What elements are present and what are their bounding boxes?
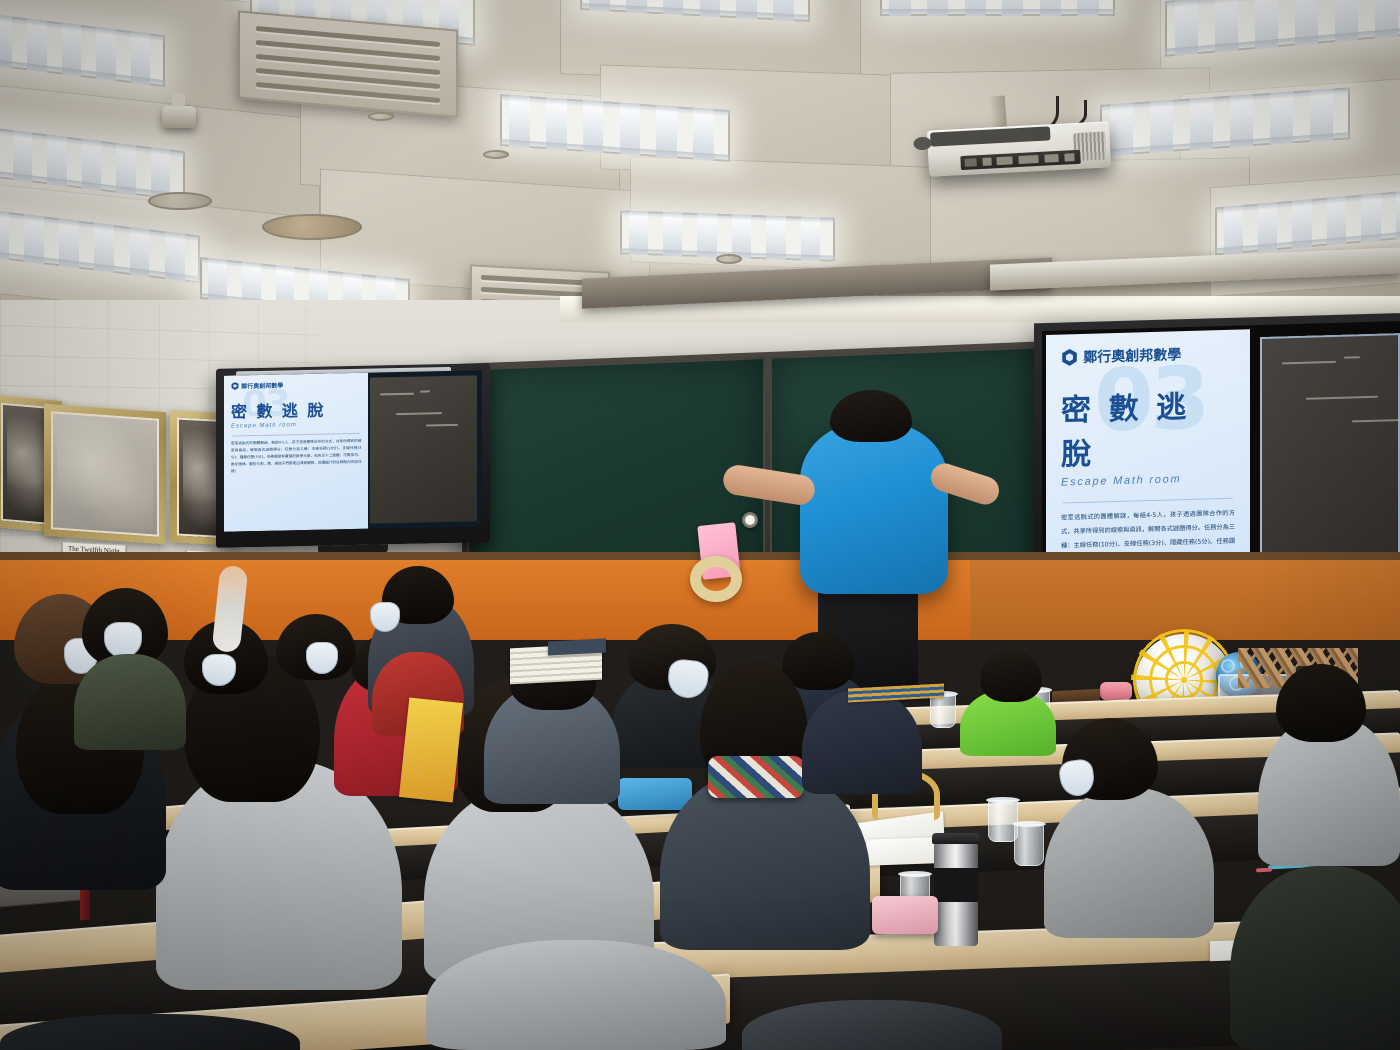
slide-title-cn: 密 數 逃 脫 bbox=[1061, 381, 1235, 474]
flyer bbox=[399, 697, 463, 802]
smoke-detector-icon bbox=[162, 106, 196, 128]
ceiling-light bbox=[880, 0, 1115, 16]
ceiling-diffuser bbox=[148, 192, 212, 210]
pen bbox=[1256, 868, 1272, 873]
ceiling-diffuser bbox=[368, 112, 394, 121]
ceiling-diffuser bbox=[716, 254, 742, 264]
slide-title-en: Escape Math room bbox=[231, 421, 361, 430]
ceiling-diffuser bbox=[262, 214, 362, 240]
presenter-torso bbox=[800, 422, 948, 594]
classroom-scene: The Twelfth Night As You Like It A Midsu… bbox=[0, 0, 1400, 1050]
wrist-watch bbox=[742, 512, 758, 528]
parent-body bbox=[74, 654, 186, 750]
clear-plastic-cup bbox=[1014, 824, 1044, 866]
student-body bbox=[802, 690, 922, 794]
wall-mounted-tv[interactable]: 鄭行奧創邦數學 03 密 數 逃 脫 Escape Math room 密室逃脫… bbox=[216, 363, 490, 548]
patterned-scarf bbox=[708, 756, 804, 798]
student-body bbox=[426, 940, 726, 1050]
blue-pencil-case bbox=[618, 778, 692, 810]
slide-title-cn: 密 數 逃 脫 bbox=[231, 396, 361, 423]
stainless-thermos bbox=[934, 842, 978, 946]
slide-title-en: Escape Math room bbox=[1061, 472, 1235, 489]
pink-block bbox=[1100, 682, 1132, 700]
pink-pencil-pouch bbox=[872, 896, 938, 934]
framed-print bbox=[44, 404, 166, 545]
hexagon-logo-icon bbox=[231, 382, 239, 390]
slide-body-cn: 密室逃脫式的團體解謎，每組4-5人，孩子透過團隊合作的方式，共享所得到的線索與資… bbox=[231, 438, 361, 476]
masking-tape-roll bbox=[690, 556, 742, 602]
student-body bbox=[1044, 788, 1214, 938]
ceiling-projector bbox=[927, 121, 1111, 176]
tv-screen: 鄭行奧創邦數學 03 密 數 逃 脫 Escape Math room 密室逃脫… bbox=[224, 370, 482, 531]
clear-plastic-cup bbox=[930, 694, 956, 728]
ceiling-diffuser bbox=[483, 150, 509, 159]
hexagon-logo-icon bbox=[1061, 349, 1078, 366]
